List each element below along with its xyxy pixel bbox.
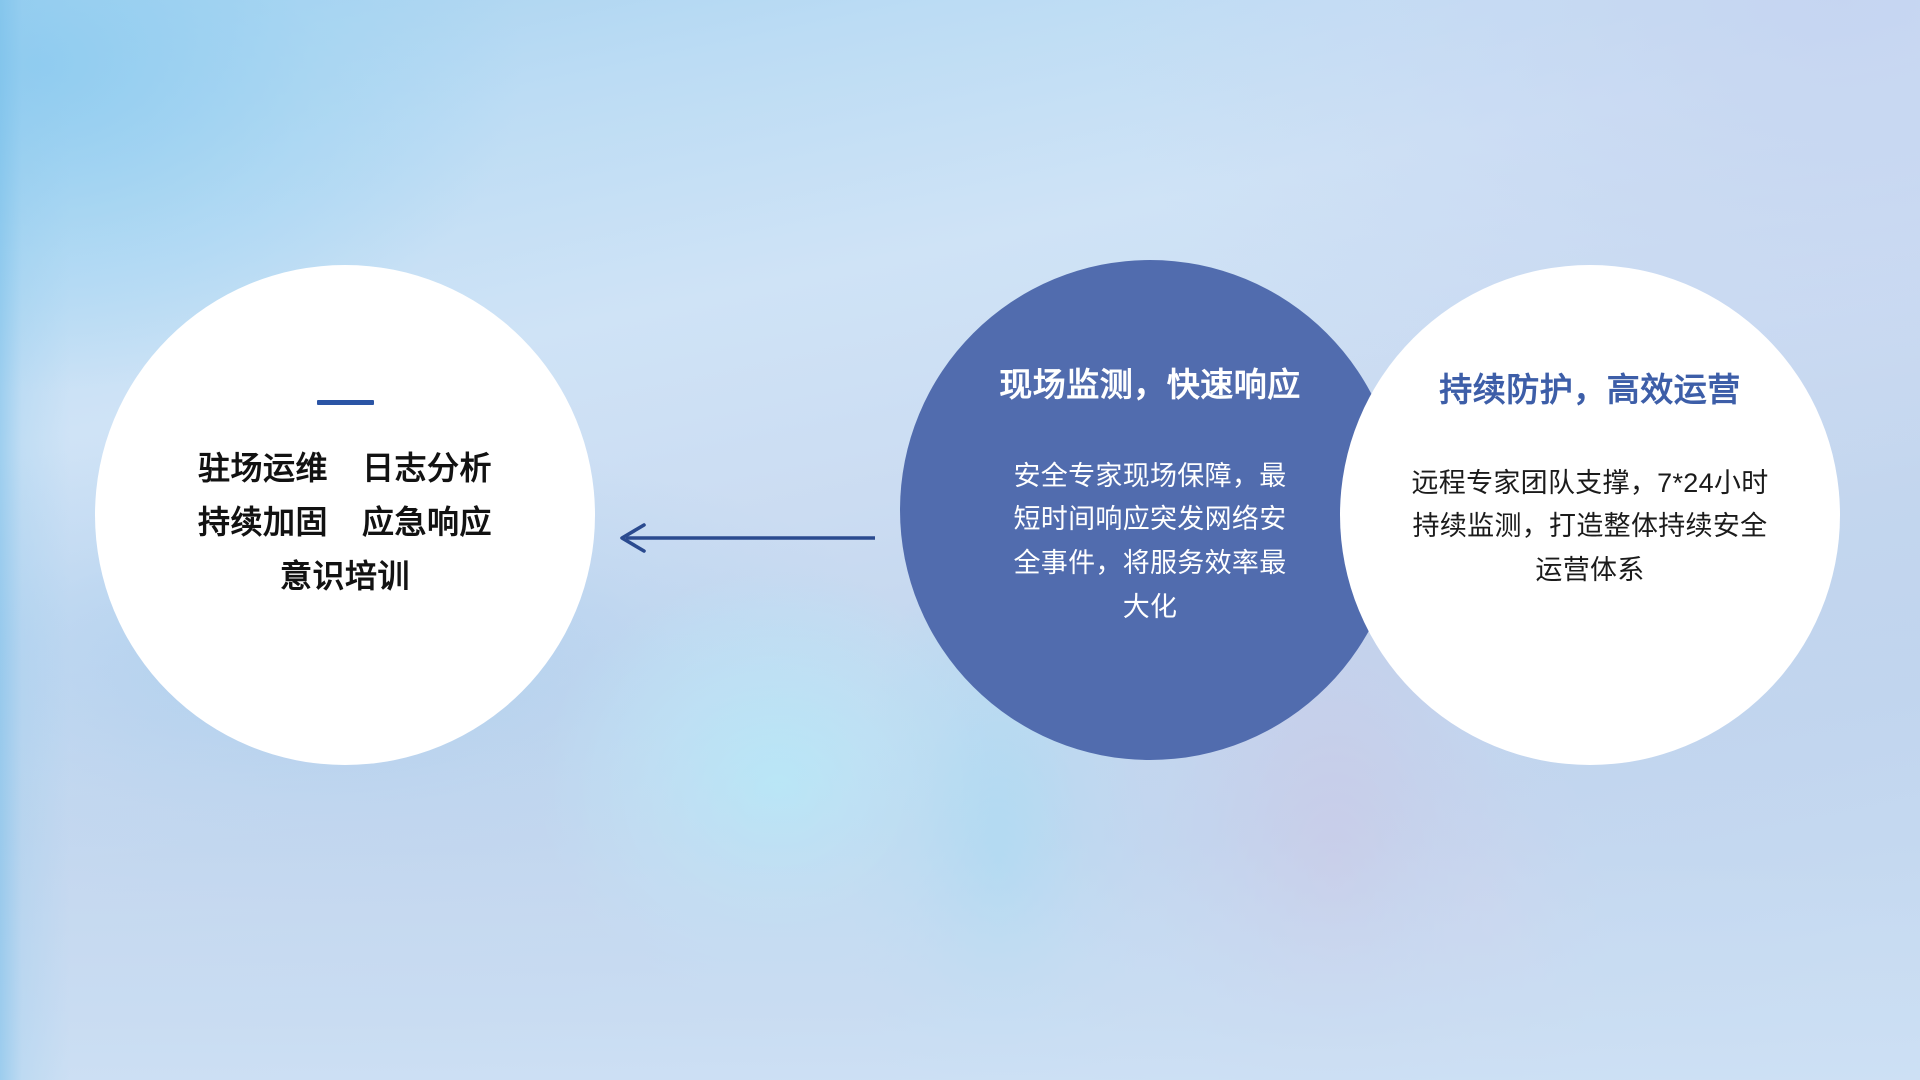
leftward-flow-arrow bbox=[600, 516, 875, 560]
capability-tag[interactable]: 日志分析 bbox=[362, 452, 492, 484]
capability-tag[interactable]: 意识培训 bbox=[280, 560, 410, 592]
capability-tag[interactable]: 驻场运维 bbox=[198, 452, 328, 484]
capability-tag[interactable]: 持续加固 bbox=[198, 506, 328, 538]
middle-circle-body-text: 安全专家现场保障，最短时间响应突发网络安全事件，将服务效率最大化 bbox=[1000, 455, 1300, 630]
on-site-service-capabilities-circle[interactable]: 驻场运维 日志分析 持续加固 应急响应 意识培训 bbox=[95, 265, 595, 765]
capability-tag-list: 驻场运维 日志分析 持续加固 应急响应 意识培训 bbox=[198, 452, 492, 592]
right-circle-title: 持续防护，高效运营 bbox=[1439, 370, 1741, 410]
on-site-monitoring-circle[interactable]: 现场监测，快速响应 安全专家现场保障，最短时间响应突发网络安全事件，将服务效率最… bbox=[900, 260, 1400, 760]
slide-canvas: 驻场运维 日志分析 持续加固 应急响应 意识培训 现场监测，快速响应 安全专家现… bbox=[0, 0, 1920, 1080]
middle-circle-title: 现场监测，快速响应 bbox=[999, 365, 1301, 405]
left-circle-content: 驻场运维 日志分析 持续加固 应急响应 意识培训 bbox=[95, 265, 595, 765]
right-circle-body-text: 远程专家团队支撑，7*24小时持续监测，打造整体持续安全运营体系 bbox=[1404, 462, 1776, 593]
tag-row: 驻场运维 日志分析 bbox=[198, 452, 492, 484]
tag-row: 意识培训 bbox=[280, 560, 410, 592]
capability-tag[interactable]: 应急响应 bbox=[362, 506, 492, 538]
tag-row: 持续加固 应急响应 bbox=[198, 506, 492, 538]
right-circle-content: 持续防护，高效运营 远程专家团队支撑，7*24小时持续监测，打造整体持续安全运营… bbox=[1340, 265, 1840, 765]
accent-dash-icon bbox=[317, 400, 374, 405]
middle-circle-content: 现场监测，快速响应 安全专家现场保障，最短时间响应突发网络安全事件，将服务效率最… bbox=[900, 260, 1400, 760]
continuous-protection-circle[interactable]: 持续防护，高效运营 远程专家团队支撑，7*24小时持续监测，打造整体持续安全运营… bbox=[1340, 265, 1840, 765]
